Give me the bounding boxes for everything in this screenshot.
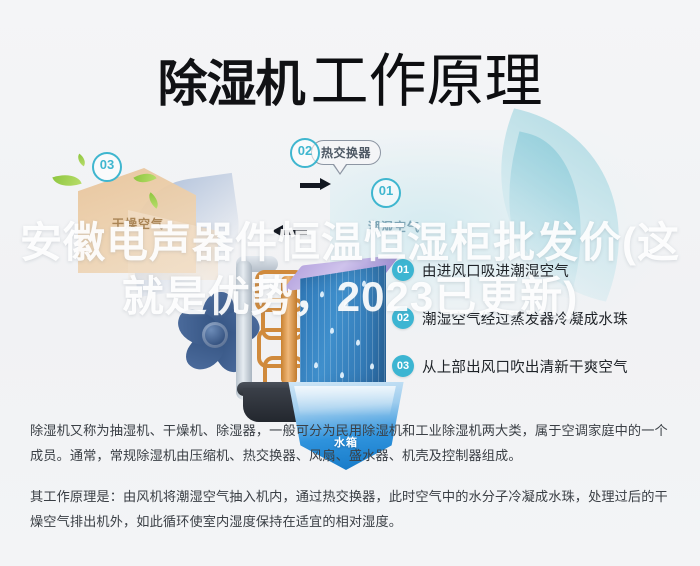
legend-item: 03 从上部出风口吹出清新干爽空气 (392, 346, 692, 386)
humid-air-label: 潮湿空气 (368, 218, 420, 235)
evaporator-block (300, 265, 386, 397)
airflow-arrow-right (320, 178, 331, 190)
body-copy: 除湿机又称为抽湿机、干燥机、除湿器，一般可分为民用除湿机和工业除湿机两大类，属于… (30, 418, 675, 550)
legend-badge-01: 01 (392, 259, 414, 281)
page-title-part1: 除湿机 (157, 56, 304, 112)
legend-text-03: 从上部出风口吹出清新干爽空气 (422, 356, 628, 377)
water-tank-sheen (292, 386, 398, 416)
airflow-arrow-left (272, 225, 283, 237)
legend-text-02: 潮湿空气经过蒸发器冷凝成水珠 (422, 308, 628, 329)
body-paragraph-2: 其工作原理是：由风机将潮湿空气抽入机内，通过热交换器，此时空气中的水分子冷凝成水… (30, 484, 675, 534)
heat-exchanger-callout: 热交换器 (311, 140, 381, 165)
legend-badge-02: 02 (392, 307, 414, 329)
legend-badge-03: 03 (392, 355, 414, 377)
refrigerant-pipe-left (236, 260, 252, 400)
dry-air-label: 干燥空气 (112, 215, 164, 232)
body-paragraph-1: 除湿机又称为抽湿机、干燥机、除湿器，一般可分为民用除湿机和工业除湿机两大类，属于… (30, 418, 675, 468)
leaf-icon (52, 169, 81, 191)
diagram-badge-01: 01 (371, 178, 401, 208)
legend-text-01: 由进风口吸进潮湿空气 (422, 260, 569, 281)
airflow-arrow-bar (283, 230, 307, 235)
diagram-badge-02: 02 (290, 138, 320, 168)
diagram-badge-03: 03 (92, 152, 122, 182)
legend-item: 02 潮湿空气经过蒸发器冷凝成水珠 (392, 298, 692, 338)
leaf-icon (75, 154, 89, 167)
legend-item: 01 由进风口吸进潮湿空气 (392, 250, 692, 290)
airflow-arrow-bar (300, 183, 322, 188)
page-title: 除湿机工作原理 (0, 34, 700, 118)
page-title-part2: 工作原理 (310, 49, 542, 114)
legend-list: 01 由进风口吸进潮湿空气 02 潮湿空气经过蒸发器冷凝成水珠 03 从上部出风… (392, 250, 692, 394)
infographic-page: 除湿机工作原理 干燥空气 潮湿空气 (0, 0, 700, 566)
